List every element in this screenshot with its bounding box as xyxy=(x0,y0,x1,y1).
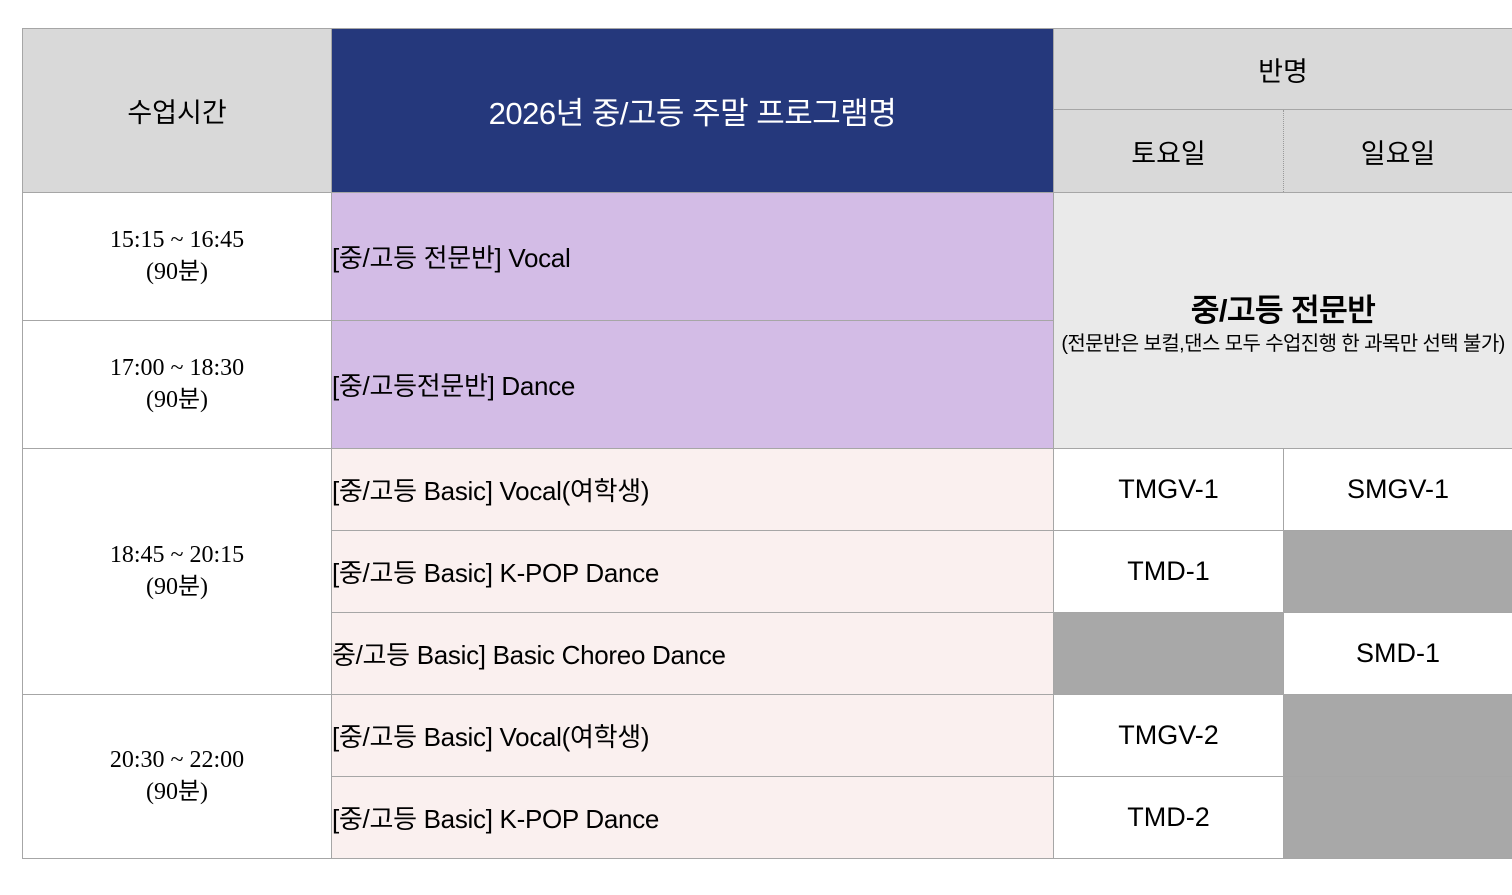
table-row: 20:30 ~ 22:00 (90분) [중/고등 Basic] Vocal(여… xyxy=(23,695,1512,777)
class-code-sunday-unavailable xyxy=(1284,777,1512,859)
class-code-sunday-unavailable xyxy=(1284,695,1512,777)
time-duration: (90분) xyxy=(23,777,331,808)
time-range: 18:45 ~ 20:15 xyxy=(23,540,331,571)
header-class-group: 반명 xyxy=(1054,29,1512,110)
program-name-cell[interactable]: [중/고등전문반] Dance xyxy=(332,321,1054,449)
class-code-sunday[interactable]: SMGV-1 xyxy=(1284,449,1512,531)
schedule-sheet: 수업시간 2026년 중/고등 주말 프로그램명 반명 토요일 일요일 15:1… xyxy=(0,0,1512,895)
table-row: 18:45 ~ 20:15 (90분) [중/고등 Basic] Vocal(여… xyxy=(23,449,1512,531)
program-name-cell[interactable]: 중/고등 Basic] Basic Choreo Dance xyxy=(332,613,1054,695)
table-header: 수업시간 2026년 중/고등 주말 프로그램명 반명 토요일 일요일 xyxy=(23,29,1512,193)
table-row: 15:15 ~ 16:45 (90분) [중/고등 전문반] Vocal 중/고… xyxy=(23,193,1512,321)
class-code-saturday-unavailable xyxy=(1054,613,1284,695)
class-code-saturday[interactable]: TMGV-2 xyxy=(1054,695,1284,777)
pro-class-note-cell: 중/고등 전문반 (전문반은 보컬,댄스 모두 수업진행 한 과목만 선택 불가… xyxy=(1054,193,1512,449)
program-name-cell[interactable]: [중/고등 Basic] K-POP Dance xyxy=(332,531,1054,613)
time-slot-cell: 15:15 ~ 16:45 (90분) xyxy=(23,193,332,321)
time-slot-cell: 20:30 ~ 22:00 (90분) xyxy=(23,695,332,859)
time-range: 15:15 ~ 16:45 xyxy=(23,225,331,256)
time-duration: (90분) xyxy=(23,257,331,288)
class-code-saturday[interactable]: TMGV-1 xyxy=(1054,449,1284,531)
header-row-1: 수업시간 2026년 중/고등 주말 프로그램명 반명 xyxy=(23,29,1512,110)
header-sunday: 일요일 xyxy=(1284,110,1512,193)
class-code-sunday-unavailable xyxy=(1284,531,1512,613)
pro-class-subtitle: (전문반은 보컬,댄스 모두 수업진행 한 과목만 선택 불가) xyxy=(1054,332,1512,357)
time-range: 17:00 ~ 18:30 xyxy=(23,353,331,384)
program-name-cell[interactable]: [중/고등 전문반] Vocal xyxy=(332,193,1054,321)
time-duration: (90분) xyxy=(23,572,331,603)
time-slot-cell: 17:00 ~ 18:30 (90분) xyxy=(23,321,332,449)
program-name-cell[interactable]: [중/고등 Basic] Vocal(여학생) xyxy=(332,695,1054,777)
header-program-name: 2026년 중/고등 주말 프로그램명 xyxy=(332,29,1054,193)
time-slot-cell: 18:45 ~ 20:15 (90분) xyxy=(23,449,332,695)
pro-class-title: 중/고등 전문반 xyxy=(1054,285,1512,330)
program-name-cell[interactable]: [중/고등 Basic] Vocal(여학생) xyxy=(332,449,1054,531)
header-saturday: 토요일 xyxy=(1054,110,1284,193)
time-range: 20:30 ~ 22:00 xyxy=(23,745,331,776)
class-code-saturday[interactable]: TMD-1 xyxy=(1054,531,1284,613)
header-class-time: 수업시간 xyxy=(23,29,332,193)
program-name-cell[interactable]: [중/고등 Basic] K-POP Dance xyxy=(332,777,1054,859)
class-code-saturday[interactable]: TMD-2 xyxy=(1054,777,1284,859)
time-duration: (90분) xyxy=(23,385,331,416)
table-body: 15:15 ~ 16:45 (90분) [중/고등 전문반] Vocal 중/고… xyxy=(23,193,1512,859)
class-code-sunday[interactable]: SMD-1 xyxy=(1284,613,1512,695)
weekend-program-schedule-table: 수업시간 2026년 중/고등 주말 프로그램명 반명 토요일 일요일 15:1… xyxy=(22,28,1512,859)
